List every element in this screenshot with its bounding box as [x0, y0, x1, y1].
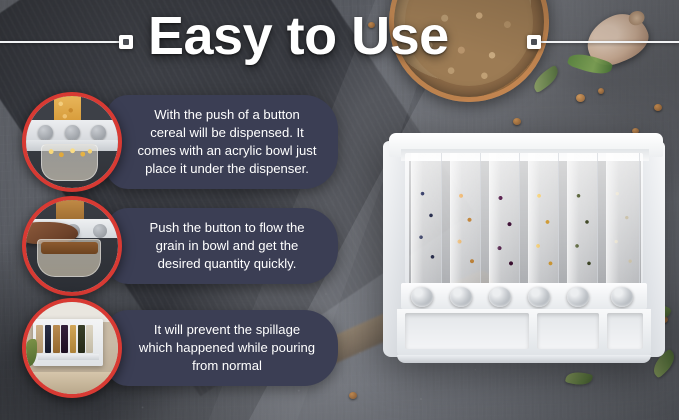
thumb-acrylic-bowl [37, 239, 101, 278]
lentil-prop [598, 88, 604, 94]
product-button-bar [401, 283, 647, 309]
glass-sheen [412, 153, 423, 283]
product-image-grain-dispenser [383, 133, 665, 369]
product-compartment-4 [528, 153, 559, 283]
dispenser-button-3[interactable] [489, 287, 511, 307]
title-rule-left [0, 41, 126, 43]
square-marker-icon [527, 35, 541, 49]
product-compartment-5 [567, 153, 598, 283]
thumb-button-row [38, 354, 100, 360]
dispenser-button-4[interactable] [528, 287, 550, 307]
lentil-prop [654, 104, 662, 111]
feature-thumbnail-push-button[interactable] [22, 196, 122, 296]
thumbnail-image-wall-mounted-dispenser [26, 302, 118, 394]
thumb-grain-tube [54, 96, 82, 122]
thumb-compartment [78, 325, 85, 353]
product-compartment-6 [606, 153, 640, 283]
feature-text-no-spillage: It will prevent the spillage which happe… [106, 310, 338, 385]
product-compartment-window [405, 153, 643, 283]
thumb-grain-tube [56, 200, 84, 220]
thumb-compartment [36, 325, 43, 353]
thumbnail-image-dispenser-bowl [26, 96, 118, 188]
thumb-counter [26, 372, 118, 394]
feature-row-dispense: With the push of a button cereal will be… [22, 92, 338, 192]
product-compartment-3 [489, 153, 520, 283]
glass-sheen [529, 153, 540, 283]
thumb-grain [41, 242, 98, 254]
thumb-compartment [70, 325, 77, 353]
thumb-acrylic-bowl [41, 144, 98, 181]
thumb-dispenser-unit [33, 319, 103, 367]
thumb-compartment [53, 325, 60, 353]
lentil-prop [513, 118, 521, 125]
dispenser-button-1[interactable] [411, 287, 433, 307]
thumb-compartment [45, 325, 52, 353]
glass-sheen [490, 153, 501, 283]
thumb-compartment [61, 325, 68, 353]
dispenser-button-5[interactable] [567, 287, 589, 307]
feature-row-push-button: Push the button to flow the grain in bow… [22, 196, 338, 296]
product-base [397, 355, 651, 363]
thumb-button-icon [65, 125, 80, 140]
glass-sheen [568, 153, 579, 283]
square-marker-icon [119, 35, 133, 49]
feature-row-no-spillage: It will prevent the spillage which happe… [22, 298, 338, 398]
dispenser-button-2[interactable] [450, 287, 472, 307]
lentil-prop [576, 94, 585, 102]
title-rule-right [540, 41, 679, 43]
product-shelf-cavity-left [405, 313, 529, 349]
product-shelf-cavity-center [537, 313, 599, 349]
product-shelf [397, 309, 651, 357]
glass-sheen [607, 153, 619, 283]
dispenser-button-6[interactable] [611, 287, 633, 307]
thumb-button-icon [93, 224, 107, 238]
feature-text-push-button: Push the button to flow the grain in bow… [106, 208, 338, 283]
lentil-prop [349, 392, 357, 399]
infographic-canvas: Easy to Use With the push of a button ce… [0, 0, 679, 420]
feature-thumbnail-no-spillage[interactable] [22, 298, 122, 398]
glass-sheen [451, 153, 462, 283]
product-compartment-2 [450, 153, 481, 283]
thumb-cereal [44, 146, 95, 160]
product-compartment-1 [411, 153, 442, 283]
feature-thumbnail-dispense[interactable] [22, 92, 122, 192]
page-title: Easy to Use [148, 8, 449, 65]
feature-text-dispense: With the push of a button cereal will be… [106, 95, 338, 188]
product-shelf-cavity-right [607, 313, 643, 349]
thumb-compartment [86, 325, 93, 353]
thumbnail-image-hand-pressing-button [26, 200, 118, 292]
